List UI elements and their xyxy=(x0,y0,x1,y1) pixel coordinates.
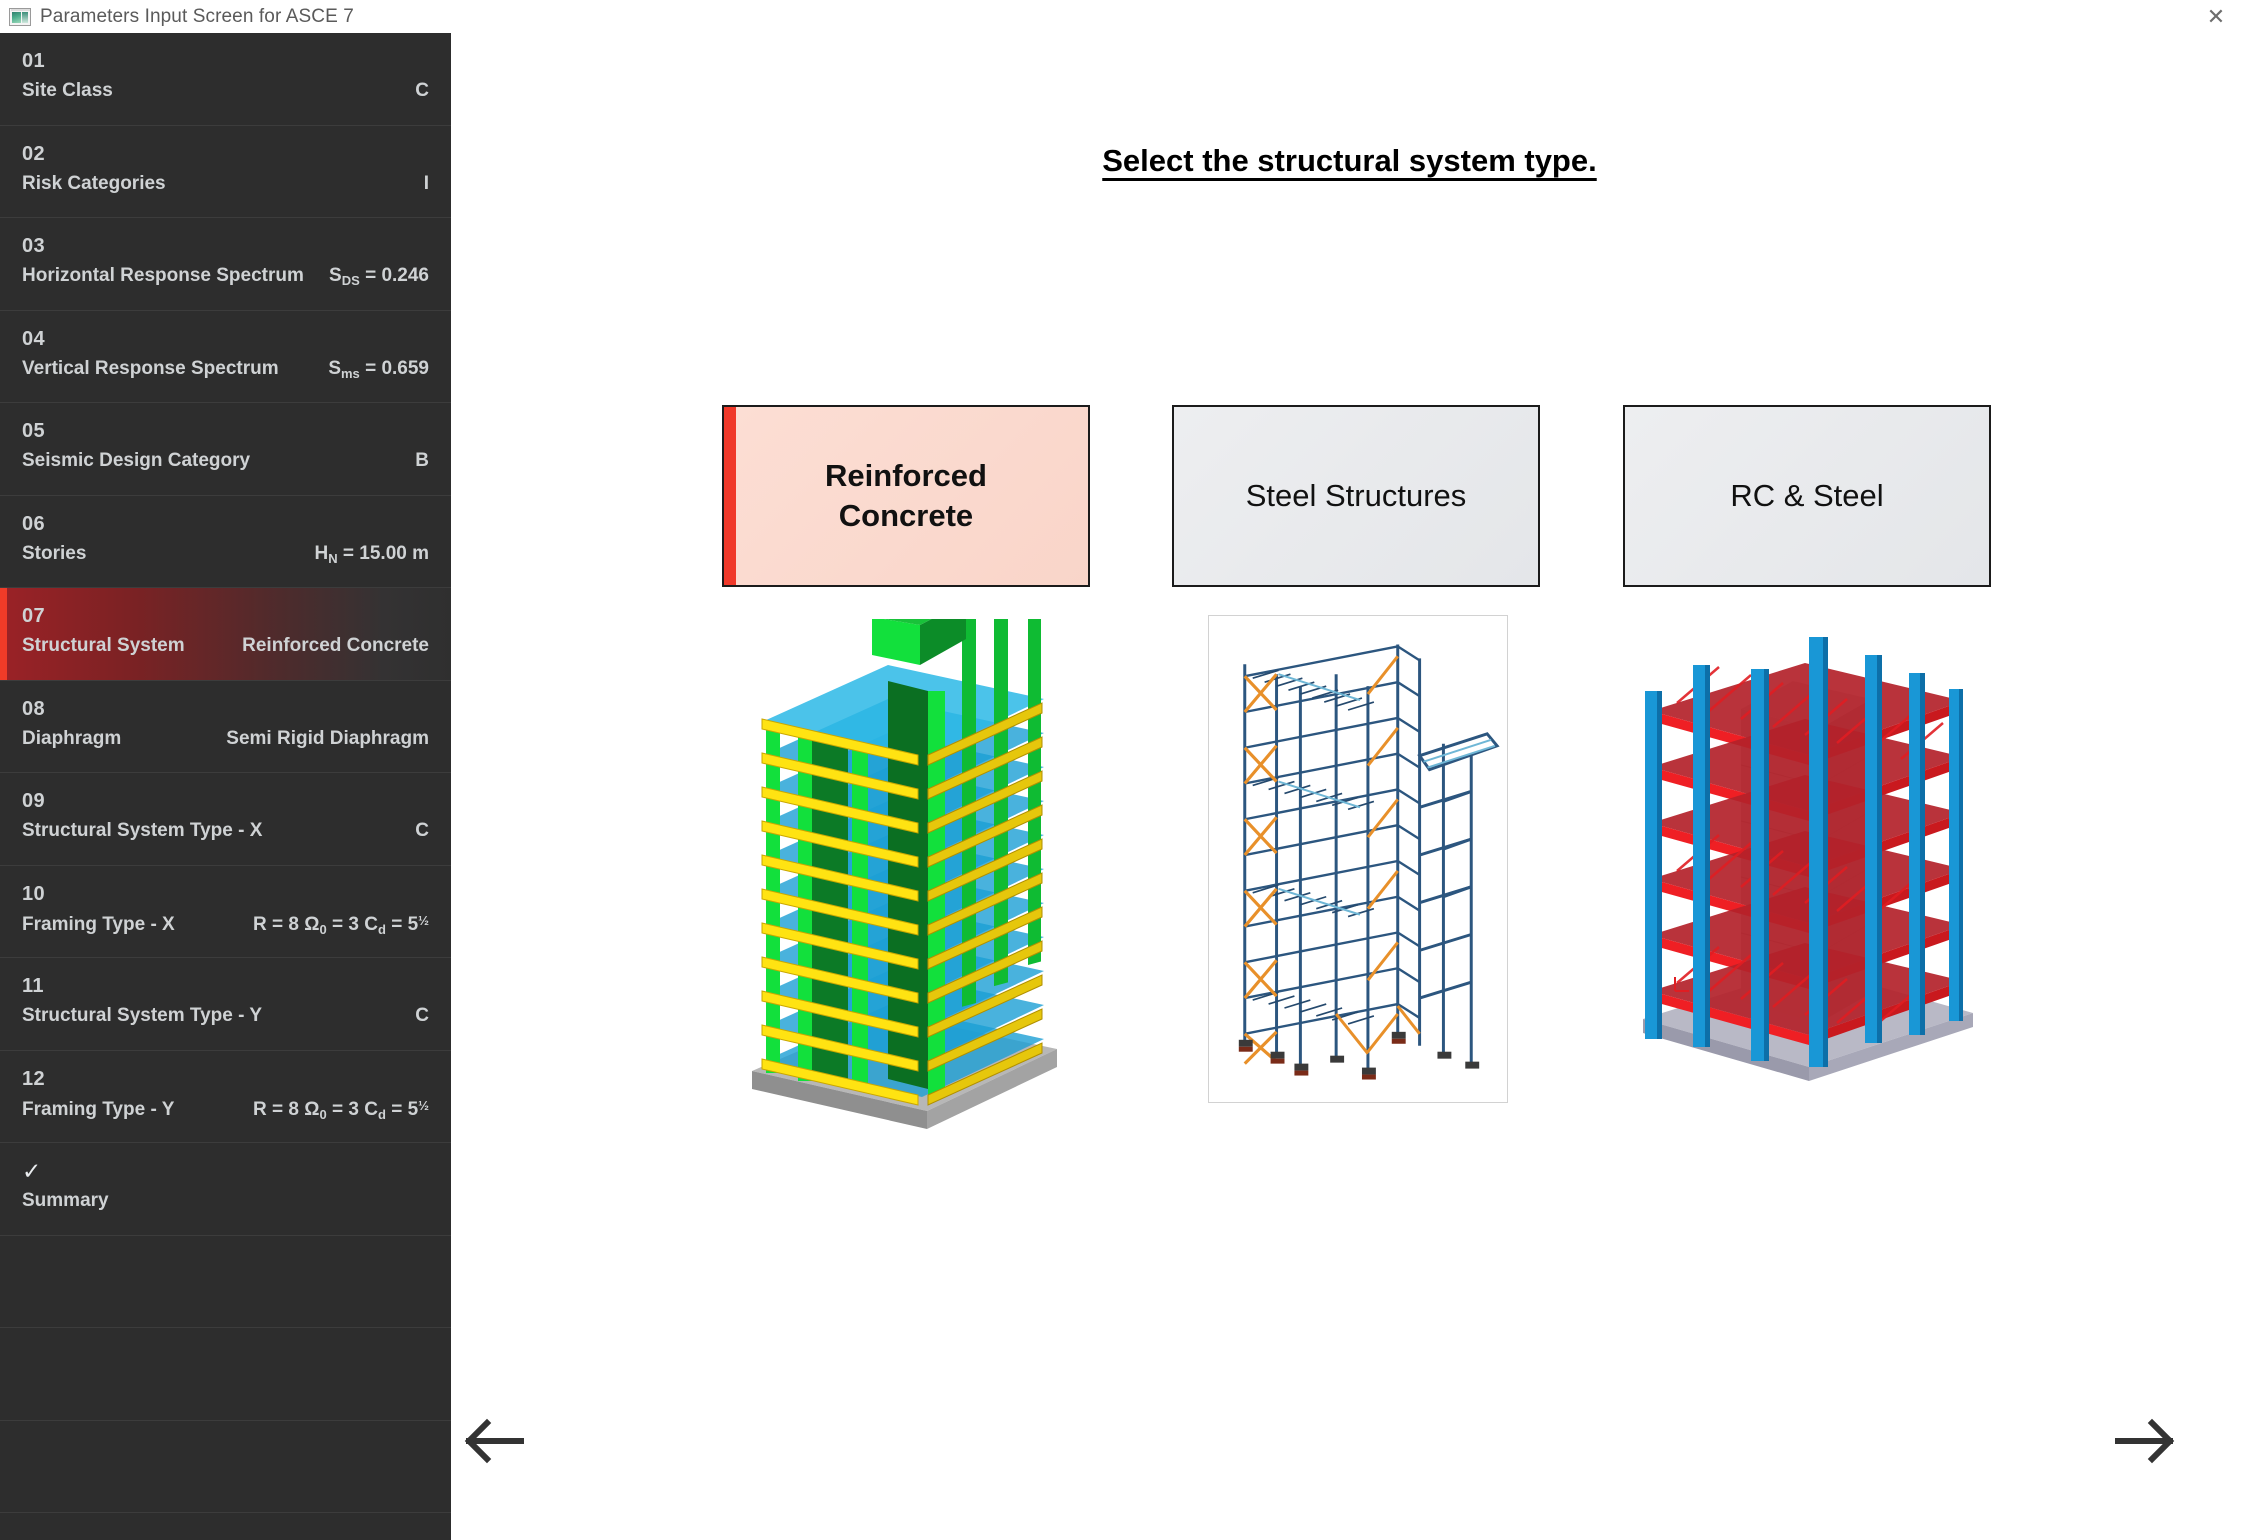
sidebar-item-label: Horizontal Response Spectrum xyxy=(22,265,304,287)
window-title: Parameters Input Screen for ASCE 7 xyxy=(40,6,354,28)
sidebar-item-number: 07 xyxy=(22,604,429,629)
sidebar-item-horizontal-response-spectrum[interactable]: 03Horizontal Response SpectrumSDS = 0.24… xyxy=(0,218,451,311)
sidebar-item-structural-system-type-x[interactable]: 09Structural System Type - XC xyxy=(0,773,451,866)
sidebar-item-risk-categories[interactable]: 02Risk CategoriesI xyxy=(0,126,451,219)
option-card-label: RC & Steel xyxy=(1716,476,1897,516)
sidebar-item-label: Risk Categories xyxy=(22,173,166,195)
check-icon: ✓ xyxy=(22,1159,429,1184)
sidebar-item-number: 12 xyxy=(22,1067,429,1092)
sidebar-item-structural-system[interactable]: 07Structural SystemReinforced Concrete xyxy=(0,588,451,681)
sidebar-item-label: Framing Type - X xyxy=(22,914,175,936)
sidebar-item-number: 06 xyxy=(22,512,429,537)
sidebar-item-seismic-design-category[interactable]: 05Seismic Design CategoryB xyxy=(0,403,451,496)
option-card-steel-structures[interactable]: Steel Structures xyxy=(1172,405,1540,587)
sidebar-item-label: Vertical Response Spectrum xyxy=(22,358,279,380)
sidebar-item-value: C xyxy=(415,1005,429,1027)
arrow-left-icon xyxy=(459,1415,533,1467)
sidebar-item-label: Summary xyxy=(22,1190,109,1212)
close-icon[interactable]: ✕ xyxy=(2184,0,2248,33)
sidebar-item-number: 11 xyxy=(22,974,429,999)
sidebar-item-number: 02 xyxy=(22,142,429,167)
sidebar-item-value: R = 8 Ω0 = 3 Cd = 5½ xyxy=(253,913,429,937)
sidebar-item-value: B xyxy=(415,450,429,472)
sidebar-item-value: C xyxy=(415,80,429,102)
sidebar-item-stories[interactable]: 06StoriesHN = 15.00 m xyxy=(0,496,451,589)
sidebar-item-number: 05 xyxy=(22,419,429,444)
window-picture-icon xyxy=(9,8,31,26)
sidebar-item-value: SDS = 0.246 xyxy=(329,265,429,288)
option-card-label: Steel Structures xyxy=(1232,476,1481,516)
sidebar-item-number: 03 xyxy=(22,234,429,259)
window-titlebar: Parameters Input Screen for ASCE 7 ✕ xyxy=(0,0,2248,33)
sidebar-item-value: Sms = 0.659 xyxy=(328,358,429,381)
sidebar-item-vertical-response-spectrum[interactable]: 04Vertical Response SpectrumSms = 0.659 xyxy=(0,311,451,404)
main-content: Select the structural system type. Reinf… xyxy=(451,33,2248,1540)
page-title: Select the structural system type. xyxy=(451,143,2248,179)
sidebar-item-label: Structural System Type - X xyxy=(22,820,262,842)
sidebar-item-structural-system-type-y[interactable]: 11Structural System Type - YC xyxy=(0,958,451,1051)
sidebar-item-number: 01 xyxy=(22,49,429,74)
composite-rc-steel-frame-3d[interactable] xyxy=(1623,615,1991,1109)
next-step-button[interactable] xyxy=(2098,1408,2188,1474)
sidebar-item-label: Diaphragm xyxy=(22,728,121,750)
sidebar-empty-row xyxy=(0,1328,451,1421)
sidebar-item-number: 04 xyxy=(22,327,429,352)
sidebar-item-value: Semi Rigid Diaphragm xyxy=(226,728,429,750)
reinforced-concrete-building-3d[interactable] xyxy=(722,619,1090,1149)
sidebar-item-value: R = 8 Ω0 = 3 Cd = 5½ xyxy=(253,1098,429,1122)
sidebar-item-number: 08 xyxy=(22,697,429,722)
option-card-rc-and-steel[interactable]: RC & Steel xyxy=(1623,405,1991,587)
sidebar-item-label: Seismic Design Category xyxy=(22,450,250,472)
sidebar-empty-row xyxy=(0,1236,451,1329)
sidebar-item-label: Site Class xyxy=(22,80,113,102)
sidebar-item-number: 09 xyxy=(22,789,429,814)
sidebar-item-label: Framing Type - Y xyxy=(22,1099,174,1121)
sidebar-item-label: Structural System Type - Y xyxy=(22,1005,262,1027)
sidebar-item-site-class[interactable]: 01Site ClassC xyxy=(0,33,451,126)
sidebar-item-number: 10 xyxy=(22,882,429,907)
sidebar-item-value: I xyxy=(424,173,429,195)
sidebar-item-diaphragm[interactable]: 08DiaphragmSemi Rigid Diaphragm xyxy=(0,681,451,774)
sidebar-empty-row xyxy=(0,1513,451,1540)
option-card-reinforced-concrete[interactable]: ReinforcedConcrete xyxy=(722,405,1090,587)
sidebar-item-label: Structural System xyxy=(22,635,185,657)
sidebar-item-value: HN = 15.00 m xyxy=(315,543,430,566)
option-card-label: ReinforcedConcrete xyxy=(811,456,1001,535)
sidebar-item-value: Reinforced Concrete xyxy=(242,635,429,657)
parameters-sidebar[interactable]: 01Site ClassC02Risk CategoriesI03Horizon… xyxy=(0,33,451,1540)
steel-tower-frame-3d[interactable] xyxy=(1208,615,1508,1103)
arrow-right-icon xyxy=(2106,1415,2180,1467)
previous-step-button[interactable] xyxy=(451,1408,541,1474)
sidebar-item-summary[interactable]: ✓Summary xyxy=(0,1143,451,1236)
sidebar-item-framing-type-x[interactable]: 10Framing Type - XR = 8 Ω0 = 3 Cd = 5½ xyxy=(0,866,451,959)
sidebar-item-label: Stories xyxy=(22,543,86,565)
sidebar-empty-row xyxy=(0,1421,451,1514)
sidebar-item-framing-type-y[interactable]: 12Framing Type - YR = 8 Ω0 = 3 Cd = 5½ xyxy=(0,1051,451,1144)
sidebar-item-value: C xyxy=(415,820,429,842)
